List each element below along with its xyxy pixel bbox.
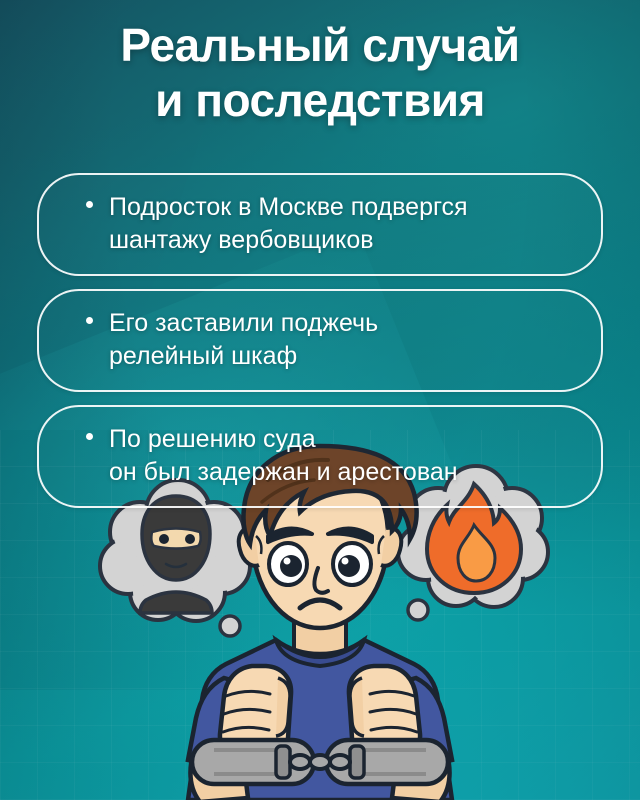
bullet-card-text: Подросток в Москве подвергся шантажу вер… — [109, 191, 579, 257]
title-line-1: Реальный случай — [0, 18, 640, 73]
bullet-dot-icon — [86, 201, 93, 208]
bullet-card-text: Его заставили поджечь релейный шкаф — [109, 307, 579, 373]
page-title: Реальный случай и последствия — [0, 18, 640, 128]
bullet-dot-icon — [86, 317, 93, 324]
thought-trail-right — [408, 600, 428, 620]
poster: Реальный случай и последствия Подросток … — [0, 0, 640, 800]
thought-trail-left — [220, 616, 240, 636]
bullet-card-text: По решению суда он был задержан и аресто… — [109, 423, 579, 489]
bullet-card: Подросток в Москве подвергся шантажу вер… — [37, 173, 603, 276]
bullet-dot-icon — [86, 433, 93, 440]
title-line-2: и последствия — [0, 73, 640, 128]
bullet-card: По решению суда он был задержан и аресто… — [37, 405, 603, 508]
bullet-card: Его заставили поджечь релейный шкаф — [37, 289, 603, 392]
bullet-card-list: Подросток в Москве подвергся шантажу вер… — [37, 173, 603, 521]
